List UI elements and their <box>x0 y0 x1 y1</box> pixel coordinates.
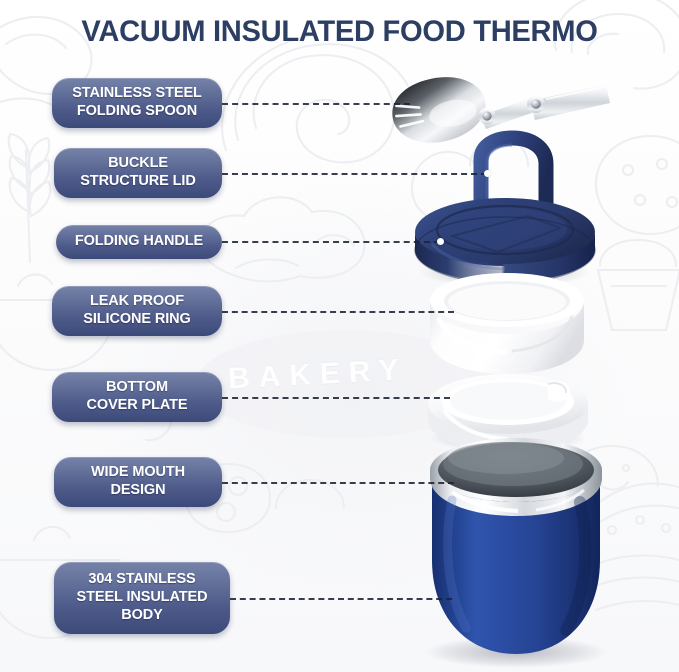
label-buckle-structure-lid[interactable]: BUCKLE STRUCTURE LID <box>54 148 222 198</box>
bakery-watermark-blob <box>196 330 496 438</box>
lid-graphic <box>415 138 595 288</box>
leader-line-lid <box>222 173 487 175</box>
connector-dot-lid <box>484 170 491 177</box>
label-folding-handle[interactable]: FOLDING HANDLE <box>56 225 222 259</box>
leader-line-spoon <box>222 103 410 105</box>
leader-line-handle <box>222 241 440 243</box>
leader-line-cover-plate <box>222 397 450 399</box>
leader-line-body <box>230 598 452 600</box>
bakery-watermark-text: BAKERY <box>227 353 408 396</box>
label-wide-mouth-design[interactable]: WIDE MOUTH DESIGN <box>54 457 222 507</box>
lid-folding-handle <box>466 138 560 244</box>
leader-line-silicone-ring <box>222 311 454 313</box>
label-304-stainless-steel-insulated-body[interactable]: 304 STAINLESS STEEL INSULATED BODY <box>54 562 230 634</box>
label-leak-proof-silicone-ring[interactable]: LEAK PROOF SILICONE RING <box>52 286 222 336</box>
folding-spork-graphic <box>387 69 610 150</box>
product-infographic: BAKERY VACUUM INSULATED FOOD THERMO <box>0 0 679 672</box>
label-bottom-cover-plate[interactable]: BOTTOM COVER PLATE <box>52 372 222 422</box>
leader-line-wide-mouth <box>222 482 454 484</box>
label-stainless-steel-folding-spoon[interactable]: STAINLESS STEEL FOLDING SPOON <box>52 78 222 128</box>
connector-dot-handle <box>437 238 444 245</box>
page-title: VACUUM INSULATED FOOD THERMO <box>10 15 669 49</box>
cover-plate-graphic <box>428 374 588 452</box>
silicone-ring-graphic <box>430 273 584 374</box>
container-body-graphic <box>424 438 608 668</box>
